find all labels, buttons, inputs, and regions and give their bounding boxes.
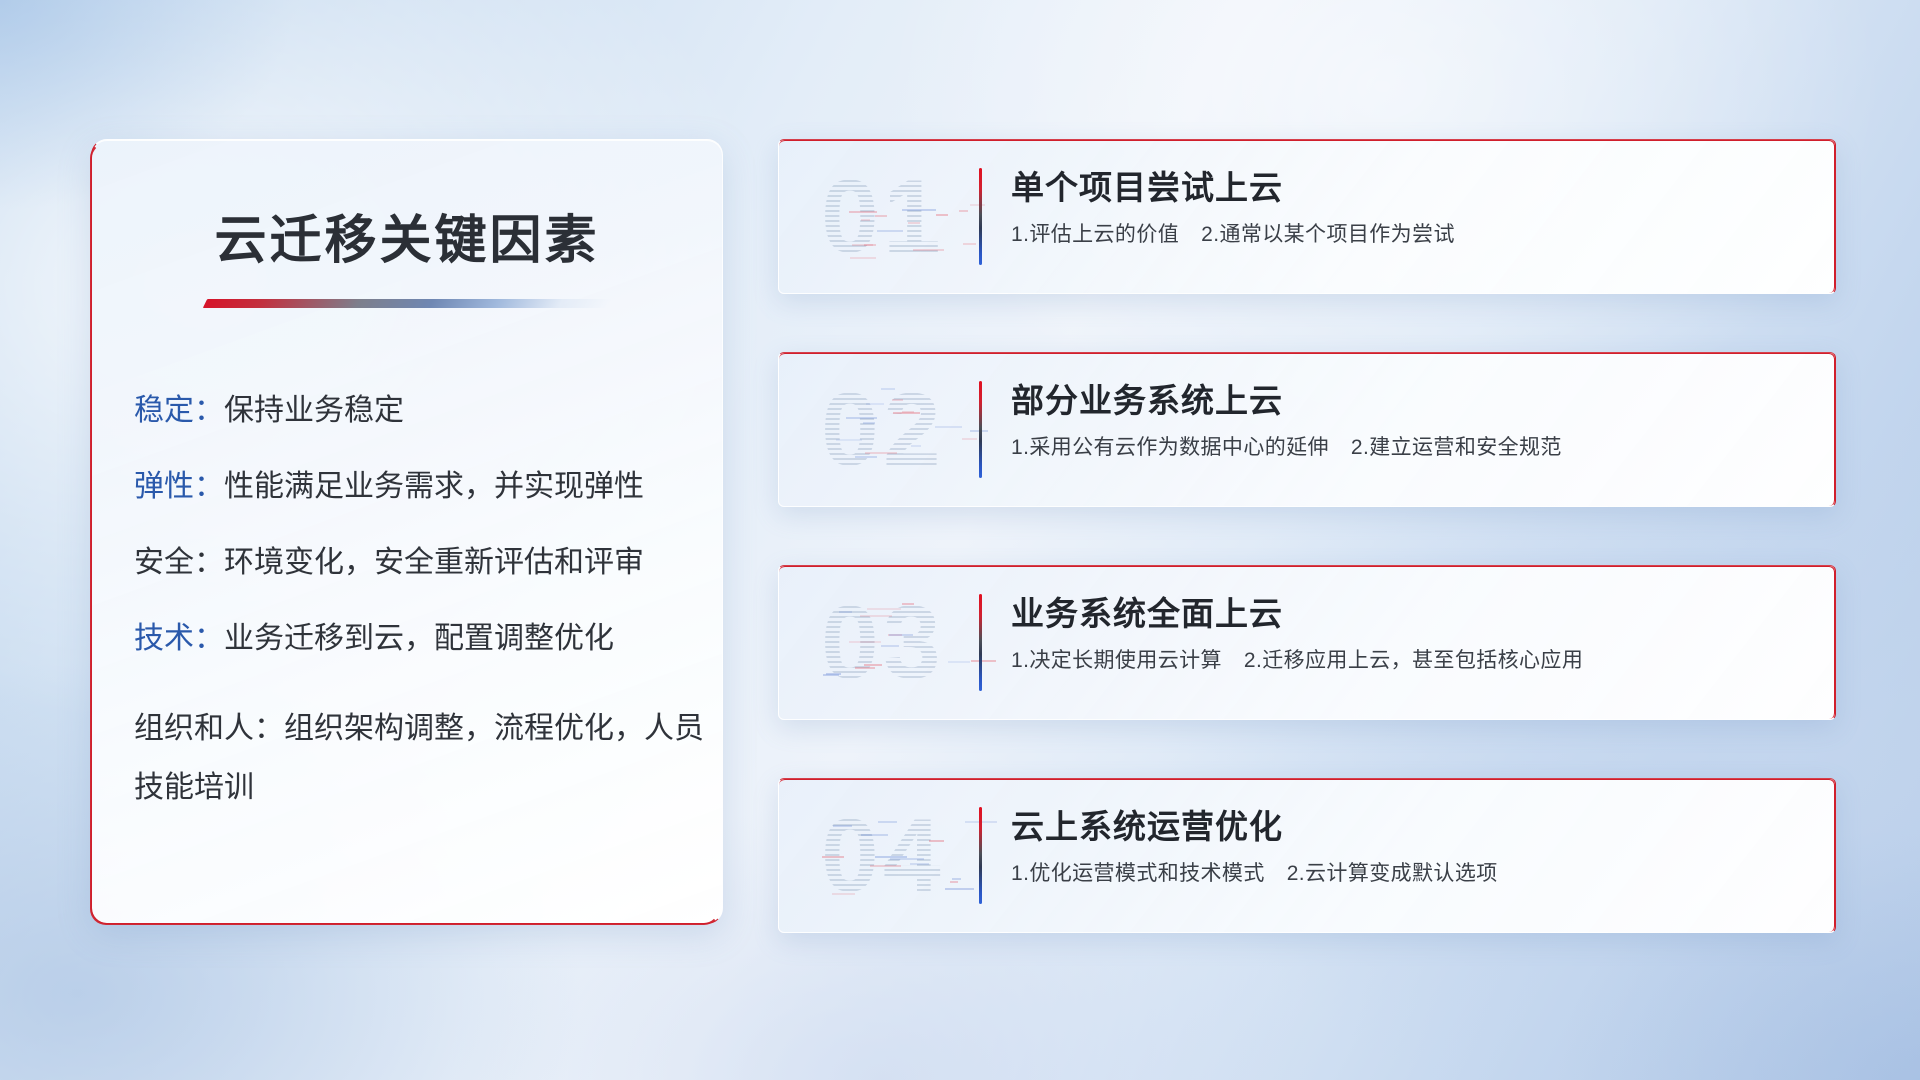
stage-number: 04 (821, 804, 945, 908)
factor-label: 安全： (134, 546, 224, 579)
stage-title: 单个项目尝试上云 (1011, 168, 1811, 208)
stage-card[interactable]: 03 业务系统全面上云 1.决定长期使用云计算2.迁移应用上云，甚至包括核心应用 (778, 565, 1836, 720)
stage-point: 1.优化运营模式和技术模式 (1011, 862, 1265, 885)
stage-body: 单个项目尝试上云 1.评估上云的价值2.通常以某个项目作为尝试 (1011, 168, 1811, 248)
stage-card[interactable]: 04 云上系统运营优化 1.优化运营模式和技术模式2.云计算变成默认选项 (778, 778, 1836, 933)
key-factors-panel: 云迁移关键因素 稳定：保持业务稳定 弹性：性能满足业务需求，并实现弹性 安全：环… (91, 139, 723, 924)
stage-title: 云上系统运营优化 (1011, 807, 1811, 847)
stage-point: 2.通常以某个项目作为尝试 (1201, 223, 1455, 246)
key-factors-list: 稳定：保持业务稳定 弹性：性能满足业务需求，并实现弹性 安全：环境变化，安全重新… (92, 308, 722, 817)
stage-body: 部分业务系统上云 1.采用公有云作为数据中心的延伸2.建立运营和安全规范 (1011, 381, 1811, 461)
stage-divider-bar (979, 168, 982, 265)
stage-divider-bar (979, 807, 982, 904)
stage-points: 1.评估上云的价值2.通常以某个项目作为尝试 (1011, 221, 1811, 248)
migration-stage-cards: 01 单个项目尝试上云 1.评估上云的价值2.通常以某个项目作为尝试 02 部分… (778, 139, 1836, 933)
factor-label: 稳定： (134, 394, 224, 427)
stage-point: 1.评估上云的价值 (1011, 223, 1179, 246)
factor-desc: 业务迁移到云，配置调整优化 (224, 622, 614, 655)
list-item: 技术：业务迁移到云，配置调整优化 (134, 624, 722, 654)
stage-point: 1.采用公有云作为数据中心的延伸 (1011, 436, 1329, 459)
stage-points: 1.决定长期使用云计算2.迁移应用上云，甚至包括核心应用 (1011, 647, 1811, 674)
stage-number: 03 (821, 591, 945, 695)
stage-title: 业务系统全面上云 (1011, 594, 1811, 634)
list-item: 安全：环境变化，安全重新评估和评审 (134, 548, 722, 578)
stage-number: 02 (821, 378, 945, 482)
stage-point: 2.迁移应用上云，甚至包括核心应用 (1244, 649, 1583, 672)
factor-label: 弹性： (134, 470, 224, 503)
stage-card[interactable]: 02 部分业务系统上云 1.采用公有云作为数据中心的延伸2.建立运营和安全规范 (778, 352, 1836, 507)
stage-divider-bar (979, 381, 982, 478)
factor-label: 组织和人： (134, 712, 284, 745)
stage-divider-bar (979, 594, 982, 691)
list-item: 稳定：保持业务稳定 (134, 396, 722, 426)
factor-desc: 保持业务稳定 (224, 394, 404, 427)
stage-body: 云上系统运营优化 1.优化运营模式和技术模式2.云计算变成默认选项 (1011, 807, 1811, 887)
page-title: 云迁移关键因素 (92, 140, 722, 273)
stage-point: 1.决定长期使用云计算 (1011, 649, 1222, 672)
stage-body: 业务系统全面上云 1.决定长期使用云计算2.迁移应用上云，甚至包括核心应用 (1011, 594, 1811, 674)
stage-card[interactable]: 01 单个项目尝试上云 1.评估上云的价值2.通常以某个项目作为尝试 (778, 139, 1836, 294)
stage-title: 部分业务系统上云 (1011, 381, 1811, 421)
stage-points: 1.优化运营模式和技术模式2.云计算变成默认选项 (1011, 860, 1811, 887)
stage-number: 01 (821, 165, 945, 269)
factor-label: 技术： (134, 622, 224, 655)
stage-point: 2.建立运营和安全规范 (1351, 436, 1562, 459)
list-item: 组织和人：组织架构调整，流程优化，人员技能培训 (134, 700, 722, 817)
factor-desc: 环境变化，安全重新评估和评审 (224, 546, 644, 579)
factor-desc: 性能满足业务需求，并实现弹性 (224, 470, 644, 503)
title-underline-rule (203, 299, 611, 308)
list-item: 弹性：性能满足业务需求，并实现弹性 (134, 472, 722, 502)
stage-point: 2.云计算变成默认选项 (1287, 862, 1498, 885)
slide-canvas: 云迁移关键因素 稳定：保持业务稳定 弹性：性能满足业务需求，并实现弹性 安全：环… (0, 0, 1920, 1080)
stage-points: 1.采用公有云作为数据中心的延伸2.建立运营和安全规范 (1011, 434, 1811, 461)
